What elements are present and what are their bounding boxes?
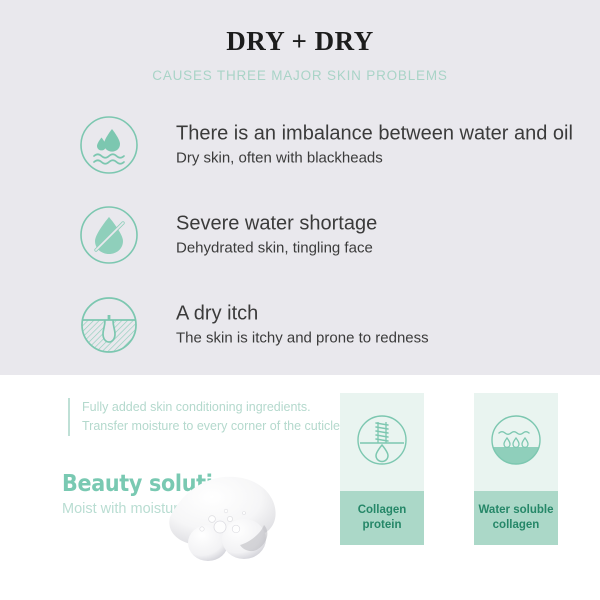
problem-text-2: Severe water shortage Dehydrated skin, t… — [176, 212, 377, 259]
claims-block: Fully added skin conditioning ingredient… — [68, 398, 343, 436]
collagen-coil-drop-icon — [351, 409, 413, 476]
ingredient-card-collagen-protein[interactable]: Collagen protein — [340, 393, 424, 545]
ingredient-label: Water soluble collagen — [479, 503, 554, 533]
problem-title: There is an imbalance between water and … — [176, 122, 573, 147]
solution-section: Fully added skin conditioning ingredient… — [0, 375, 600, 600]
ingredient-label-area: Water soluble collagen — [474, 491, 558, 545]
problem-title: Severe water shortage — [176, 212, 377, 237]
ingredient-icon-area — [340, 393, 424, 491]
problem-item-1: There is an imbalance between water and … — [0, 100, 600, 190]
claim-line-1: Fully added skin conditioning ingredient… — [82, 398, 343, 417]
ingredient-label-line1: Collagen — [358, 504, 407, 516]
problem-text-3: A dry itch The skin is itchy and prone t… — [176, 302, 429, 349]
problem-title: A dry itch — [176, 302, 429, 327]
problem-subtitle: The skin is itchy and prone to redness — [176, 330, 429, 349]
problem-subtitle: Dry skin, often with blackheads — [176, 150, 573, 169]
ingredient-label-line1: Water soluble — [479, 504, 554, 516]
ingredient-icon-area — [474, 393, 558, 491]
skin-pore-follicle-icon — [79, 295, 139, 355]
brand-subtitle: Moist with moisture — [62, 501, 241, 518]
infographic-page: DRY + DRY CAUSES THREE MAJOR SKIN PROBLE… — [0, 0, 600, 600]
problem-list: There is an imbalance between water and … — [0, 100, 600, 370]
brand-block: Beauty solution Moist with moisture — [62, 472, 241, 519]
water-drops-waves-icon — [79, 115, 139, 175]
ingredient-card-water-soluble-collagen[interactable]: Water soluble collagen — [474, 393, 558, 545]
ingredient-label-line2: protein — [363, 519, 402, 531]
ingredient-label: Collagen protein — [358, 503, 407, 533]
claim-line-2: Transfer moisture to every corner of the… — [82, 417, 343, 436]
problem-item-3: A dry itch The skin is itchy and prone t… — [0, 280, 600, 370]
problem-subtitle: Dehydrated skin, tingling face — [176, 240, 377, 259]
no-water-drop-icon — [79, 205, 139, 265]
problem-text-1: There is an imbalance between water and … — [176, 122, 573, 169]
ingredient-label-line2: collagen — [493, 519, 540, 531]
problem-item-2: Severe water shortage Dehydrated skin, t… — [0, 190, 600, 280]
page-subtitle: CAUSES THREE MAJOR SKIN PROBLEMS — [0, 68, 600, 83]
ingredient-label-area: Collagen protein — [340, 491, 424, 545]
water-waves-drops-icon — [485, 409, 547, 476]
brand-title: Beauty solution — [62, 472, 241, 497]
page-title: DRY + DRY — [0, 26, 600, 57]
problems-section: DRY + DRY CAUSES THREE MAJOR SKIN PROBLE… — [0, 0, 600, 375]
